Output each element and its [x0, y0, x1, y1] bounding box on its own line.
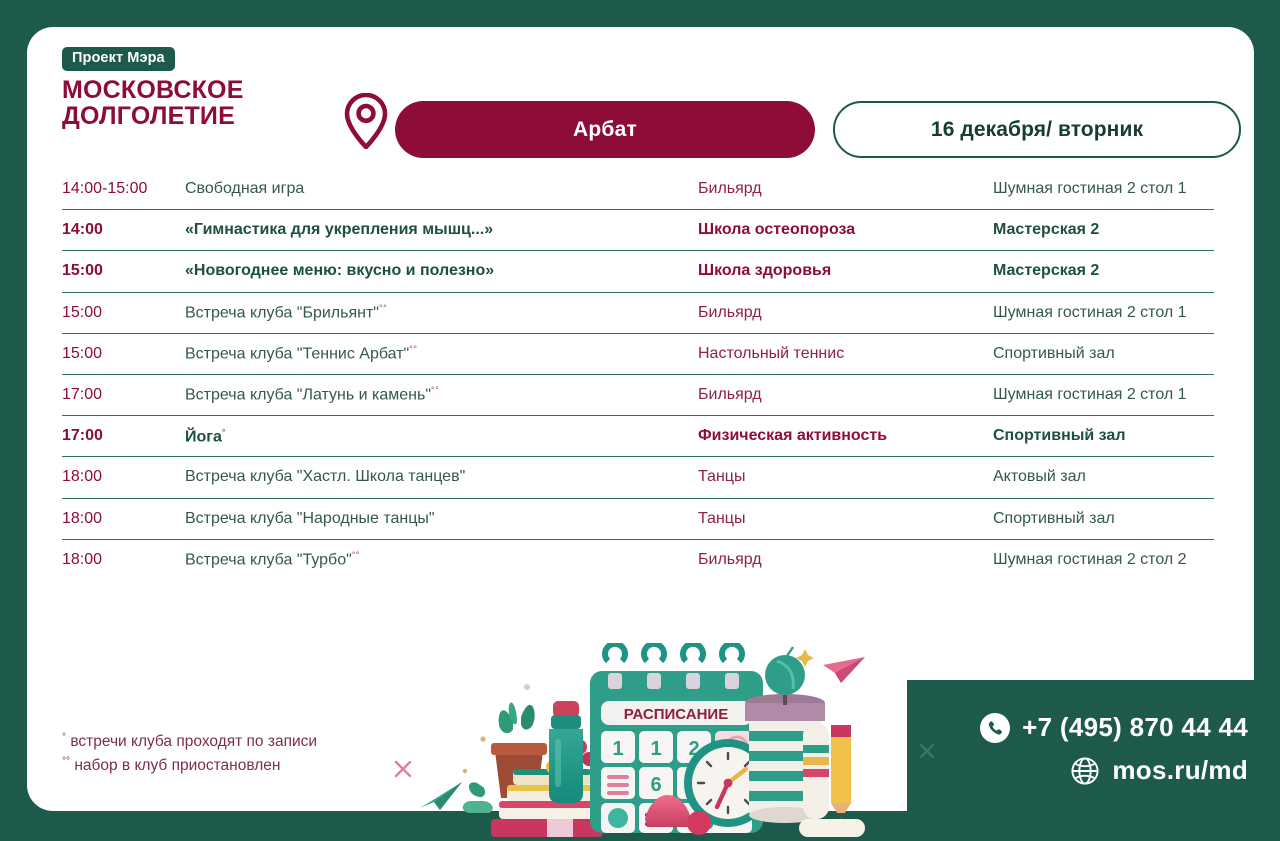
svg-text:6: 6 — [650, 774, 661, 796]
location-pill[interactable]: Арбат — [395, 101, 815, 158]
cross-decoration-icon-2 — [918, 742, 936, 760]
row-time: 15:00 — [62, 262, 185, 280]
website-row[interactable]: mos.ru/md — [980, 755, 1248, 786]
footnote-marker: °° — [352, 550, 360, 560]
row-category: Бильярд — [698, 180, 993, 198]
paper-plane-illustration — [823, 657, 865, 683]
footnote-marker: °° — [409, 344, 417, 354]
row-title: «Гимнастика для укрепления мышц...» — [185, 221, 698, 239]
mayor-project-badge: Проект Мэра — [62, 47, 175, 71]
row-time: 18:00 — [62, 468, 185, 486]
globe-icon — [1070, 756, 1100, 786]
brand-block: Проект Мэра МОСКОВСКОЕ ДОЛГОЛЕТИЕ — [62, 47, 244, 130]
table-row: 14:00«Гимнастика для укрепления мышц...»… — [62, 209, 1214, 250]
row-place: Актовый зал — [993, 468, 1214, 486]
bottle-illustration — [549, 701, 583, 803]
phone-icon — [980, 713, 1010, 743]
pencil-illustration — [831, 725, 851, 819]
footnote-marker: °° — [379, 303, 387, 313]
table-row: 15:00«Новогоднее меню: вкусно и полезно»… — [62, 250, 1214, 291]
marker-illustration — [803, 723, 829, 819]
svg-text:РАСПИСАНИЕ: РАСПИСАНИЕ — [624, 706, 728, 723]
table-row: 17:00Йога°Физическая активностьСпортивны… — [62, 415, 1214, 456]
row-category: Школа остеопороза — [698, 221, 993, 239]
row-title: Йога° — [185, 427, 698, 446]
schedule-table: 14:00-15:00Свободная играБильярдШумная г… — [62, 168, 1214, 580]
row-category: Настольный теннис — [698, 345, 993, 363]
website-url: mos.ru/md — [1112, 755, 1248, 786]
header: Проект Мэра МОСКОВСКОЕ ДОЛГОЛЕТИЕ Арбат … — [27, 27, 1254, 157]
row-category: Физическая активность — [698, 427, 993, 445]
phone-row[interactable]: +7 (495) 870 44 44 — [980, 712, 1248, 743]
location-pin-icon — [343, 93, 389, 149]
row-title: Встреча клуба "Латунь и камень"°° — [185, 385, 698, 404]
footnotes: ° встречи клуба проходят по записи °° на… — [62, 730, 317, 778]
table-row: 18:00Встреча клуба "Народные танцы"Танцы… — [62, 498, 1214, 539]
row-title: Встреча клуба "Брильянт"°° — [185, 303, 698, 322]
footnote-1-text: встречи клуба проходят по записи — [70, 733, 317, 750]
row-time: 18:00 — [62, 551, 185, 569]
table-row: 15:00Встреча клуба "Брильянт"°°БильярдШу… — [62, 292, 1214, 333]
row-time: 17:00 — [62, 386, 185, 404]
row-place: Спортивный зал — [993, 510, 1214, 528]
table-row: 18:00Встреча клуба "Хастл. Школа танцев"… — [62, 456, 1214, 497]
date-pill[interactable]: 16 декабря/ вторник — [833, 101, 1241, 158]
row-title: «Новогоднее меню: вкусно и полезно» — [185, 262, 698, 280]
footnote-2-mark: °° — [62, 756, 70, 767]
cross-decoration-icon — [392, 758, 414, 780]
table-row: 15:00Встреча клуба "Теннис Арбат"°°Насто… — [62, 333, 1214, 374]
row-category: Школа здоровья — [698, 262, 993, 280]
row-title: Встреча клуба "Турбо"°° — [185, 550, 698, 569]
footnote-2-text: набор в клуб приостановлен — [74, 757, 280, 774]
table-row: 14:00-15:00Свободная играБильярдШумная г… — [62, 168, 1214, 209]
footnote-1-mark: ° — [62, 732, 66, 743]
footnote-marker: °° — [431, 385, 439, 395]
footnote-2: °° набор в клуб приостановлен — [62, 754, 317, 778]
row-place: Мастерская 2 — [993, 221, 1214, 239]
row-time: 15:00 — [62, 345, 185, 363]
row-title: Встреча клуба "Хастл. Школа танцев" — [185, 468, 698, 486]
paper-plane-decoration-icon — [418, 778, 464, 812]
row-time: 18:00 — [62, 510, 185, 528]
row-category: Бильярд — [698, 304, 993, 322]
row-place: Спортивный зал — [993, 345, 1214, 363]
eraser-illustration — [799, 819, 865, 837]
brand-title-line2: ДОЛГОЛЕТИЕ — [62, 103, 244, 130]
location-label: Арбат — [573, 118, 637, 142]
row-category: Танцы — [698, 510, 993, 528]
contact-block: +7 (495) 870 44 44 mos.ru/md — [980, 712, 1248, 798]
row-place: Шумная гостиная 2 стол 1 — [993, 304, 1214, 322]
schedule-calendar-illustration: РАСПИСАНИЕ 1 1 2 3 6 20 — [455, 643, 870, 841]
row-place: Шумная гостиная 2 стол 2 — [993, 551, 1214, 569]
row-place: Шумная гостиная 2 стол 1 — [993, 180, 1214, 198]
footnote-marker: ° — [222, 427, 226, 437]
row-time: 15:00 — [62, 304, 185, 322]
phone-number: +7 (495) 870 44 44 — [1022, 712, 1248, 743]
table-row: 18:00Встреча клуба "Турбо"°°БильярдШумна… — [62, 539, 1214, 580]
row-category: Танцы — [698, 468, 993, 486]
row-place: Спортивный зал — [993, 427, 1214, 445]
row-category: Бильярд — [698, 386, 993, 404]
footnote-1: ° встречи клуба проходят по записи — [62, 730, 317, 754]
row-title: Встреча клуба "Народные танцы" — [185, 510, 698, 528]
row-category: Бильярд — [698, 551, 993, 569]
row-time: 14:00-15:00 — [62, 180, 185, 198]
page-title: МОСКОВСКОЕ ДОЛГОЛЕТИЕ — [62, 77, 244, 131]
row-time: 17:00 — [62, 427, 185, 445]
row-time: 14:00 — [62, 221, 185, 239]
row-place: Шумная гостиная 2 стол 1 — [993, 386, 1214, 404]
svg-text:1: 1 — [650, 738, 661, 760]
row-title: Свободная игра — [185, 180, 698, 198]
brand-title-line1: МОСКОВСКОЕ — [62, 76, 244, 104]
row-title: Встреча клуба "Теннис Арбат"°° — [185, 344, 698, 363]
date-label: 16 декабря/ вторник — [931, 118, 1143, 142]
row-place: Мастерская 2 — [993, 262, 1214, 280]
svg-text:1: 1 — [612, 738, 623, 760]
table-row: 17:00Встреча клуба "Латунь и камень"°°Би… — [62, 374, 1214, 415]
